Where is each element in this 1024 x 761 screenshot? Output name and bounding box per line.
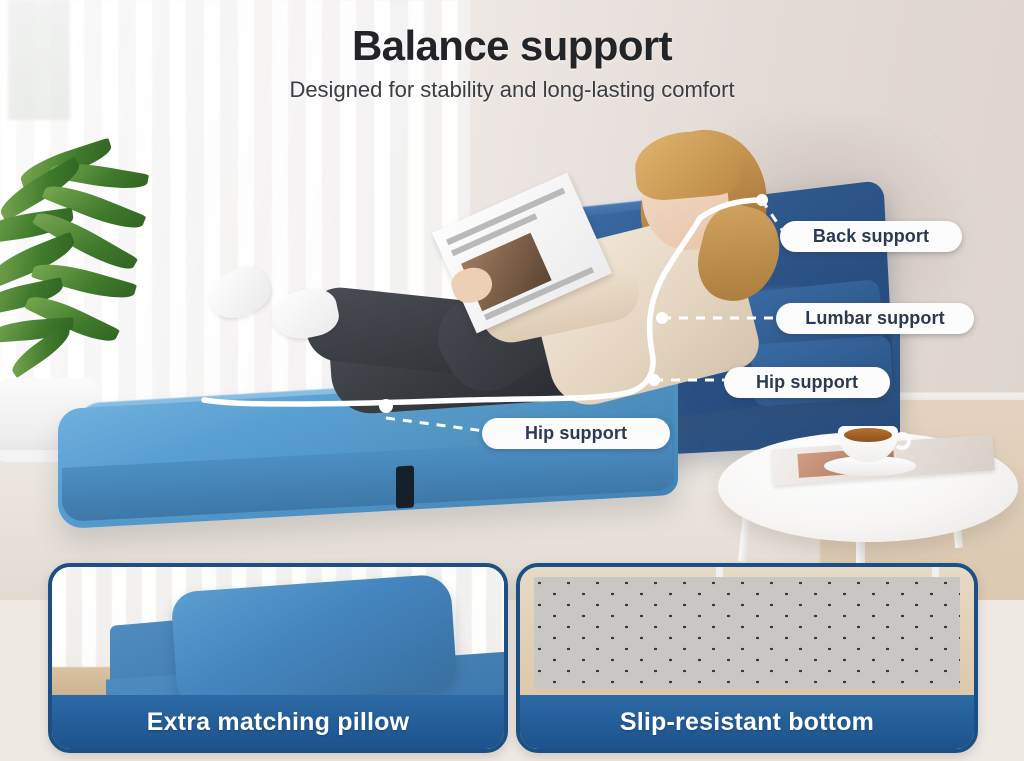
- callout-lumbar-support: Lumbar support: [776, 303, 974, 334]
- card-label: Slip-resistant bottom: [520, 695, 974, 749]
- card-label: Extra matching pillow: [52, 695, 504, 749]
- node-dot-lumbar: [656, 312, 668, 324]
- card-label-text: Slip-resistant bottom: [620, 708, 874, 737]
- callout-label: Hip support: [756, 372, 858, 393]
- callout-hip-support-upper: Hip support: [724, 367, 890, 398]
- connector-hip-lower: [386, 418, 492, 432]
- posture-contour-overlay: [0, 0, 1024, 600]
- callout-label: Hip support: [525, 423, 627, 444]
- callout-label: Back support: [813, 226, 929, 247]
- node-dot-back: [756, 194, 768, 206]
- callout-back-support: Back support: [780, 221, 962, 252]
- card-label-text: Extra matching pillow: [147, 708, 410, 737]
- callout-label: Lumbar support: [805, 308, 944, 329]
- product-feature-image: Balance support Designed for stability a…: [0, 0, 1024, 761]
- node-dot-hip-lower: [379, 399, 393, 413]
- node-dot-hip-upper: [648, 374, 660, 386]
- contour-line: [204, 218, 700, 404]
- contour-line-upper: [700, 200, 762, 218]
- callout-hip-support-lower: Hip support: [482, 418, 670, 449]
